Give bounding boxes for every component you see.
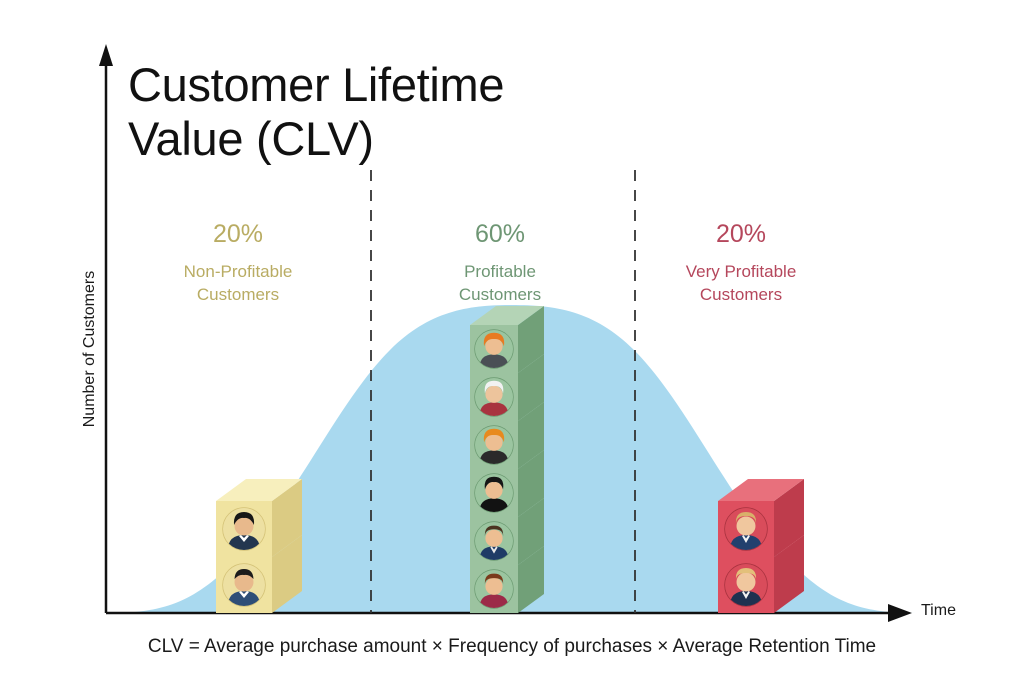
x-axis-arrowhead bbox=[888, 604, 912, 622]
segment-label-profitable: 60% Profitable Customers bbox=[390, 219, 610, 307]
clv-formula-caption: CLV = Average purchase amount × Frequenc… bbox=[0, 636, 1024, 658]
page-title: Customer Lifetime Value (CLV) bbox=[128, 58, 668, 166]
segment-percent: 20% bbox=[128, 219, 348, 249]
y-axis-label: Number of Customers bbox=[81, 219, 99, 479]
block-stack-profitable bbox=[470, 306, 544, 613]
block-stack-non-profitable bbox=[216, 479, 302, 613]
segment-percent: 60% bbox=[390, 219, 610, 249]
segment-name: Profitable Customers bbox=[390, 261, 610, 307]
segment-name: Non-Profitable Customers bbox=[128, 261, 348, 307]
clv-infographic: Customer Lifetime Value (CLV) Number of … bbox=[0, 0, 1024, 683]
x-axis-label: Time bbox=[921, 602, 956, 620]
y-axis-arrowhead bbox=[99, 44, 113, 66]
segment-label-very-profitable: 20% Very Profitable Customers bbox=[631, 219, 851, 307]
block-stack-very-profitable bbox=[718, 479, 804, 613]
segment-name: Very Profitable Customers bbox=[631, 261, 851, 307]
segment-label-non-profitable: 20% Non-Profitable Customers bbox=[128, 219, 348, 307]
segment-percent: 20% bbox=[631, 219, 851, 249]
